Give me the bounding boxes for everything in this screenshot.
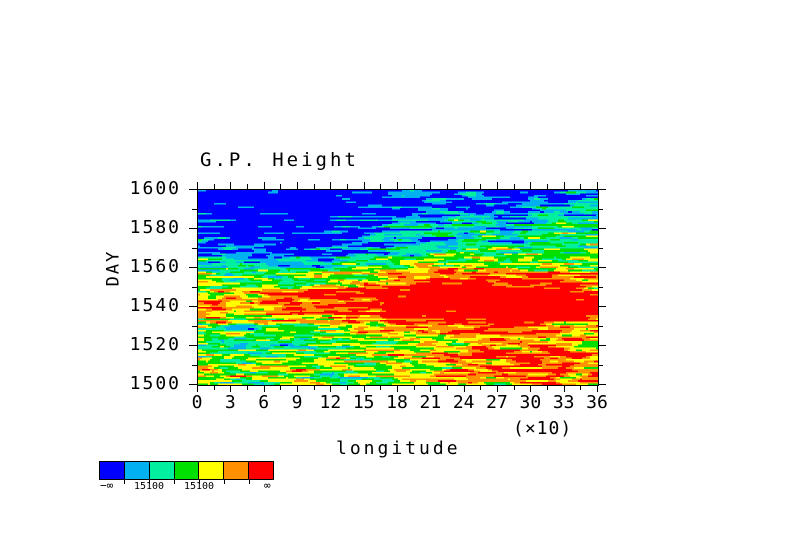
x-tick-top (314, 184, 315, 189)
x-tick-top (497, 182, 498, 189)
x-tick-bottom (597, 385, 598, 392)
x-tick-bottom (580, 385, 581, 390)
y-tick-right (598, 365, 603, 366)
x-tick-top (514, 184, 515, 189)
x-tick-top (280, 184, 281, 189)
x-tick-top (247, 184, 248, 189)
y-tick-left (189, 384, 197, 385)
x-tick-top (430, 182, 431, 189)
colorbar-tick (249, 480, 250, 484)
y-tick-label: 1540 (113, 295, 181, 316)
y-tick-right (598, 326, 603, 327)
x-tick-bottom (530, 385, 531, 392)
x-tick-top (214, 184, 215, 189)
y-tick-left (192, 326, 197, 327)
x-tick-bottom (497, 385, 498, 392)
y-tick-label: 1520 (113, 334, 181, 355)
y-tick-left (189, 228, 197, 229)
x-tick-top (580, 184, 581, 189)
x-tick-top (597, 182, 598, 189)
x-tick-bottom (330, 385, 331, 392)
y-tick-right (598, 189, 606, 190)
y-tick-label: 1600 (113, 178, 181, 199)
x-tick-top (330, 182, 331, 189)
x-tick-top (447, 184, 448, 189)
heatmap-plot-area (197, 189, 599, 386)
x-tick-bottom (197, 385, 198, 392)
x-tick-bottom (380, 385, 381, 390)
x-tick-bottom (480, 385, 481, 390)
colorbar-segment (248, 462, 273, 479)
colorbar (99, 461, 274, 480)
y-tick-left (192, 248, 197, 249)
x-axis-title: longitude (336, 438, 461, 459)
y-tick-right (598, 345, 606, 346)
x-tick-top (297, 182, 298, 189)
colorbar-min-label: −∞ (100, 479, 113, 492)
x-tick-bottom (280, 385, 281, 390)
x-tick-top (380, 184, 381, 189)
y-tick-label: 1560 (113, 256, 181, 277)
heatmap-field (198, 190, 598, 385)
y-tick-left (192, 209, 197, 210)
y-tick-right (598, 267, 606, 268)
x-tick-top (347, 184, 348, 189)
y-tick-right (598, 384, 606, 385)
x-tick-bottom (314, 385, 315, 390)
x-tick-top (364, 182, 365, 189)
x-axis-multiplier-label: (×10) (513, 418, 572, 439)
x-tick-bottom (430, 385, 431, 392)
x-tick-bottom (514, 385, 515, 390)
x-tick-bottom (397, 385, 398, 392)
x-tick-bottom (297, 385, 298, 392)
x-tick-bottom (447, 385, 448, 390)
y-tick-label: 1500 (113, 373, 181, 394)
y-tick-left (189, 189, 197, 190)
y-tick-right (598, 248, 603, 249)
colorbar-segment (198, 462, 223, 479)
colorbar-segments (99, 461, 274, 480)
x-tick-top (230, 182, 231, 189)
figure-canvas: G.P. Height DAY 036912151821242730333615… (0, 0, 789, 558)
y-tick-right (598, 228, 606, 229)
x-tick-bottom (547, 385, 548, 390)
page-title: G.P. Height (200, 149, 359, 171)
y-tick-right (598, 306, 606, 307)
colorbar-max-label: ∞ (264, 479, 271, 492)
x-tick-bottom (247, 385, 248, 390)
x-tick-bottom (364, 385, 365, 392)
x-tick-bottom (414, 385, 415, 390)
y-tick-label: 1580 (113, 217, 181, 238)
x-tick-top (464, 182, 465, 189)
y-tick-left (192, 365, 197, 366)
x-tick-bottom (264, 385, 265, 392)
x-tick-top (547, 184, 548, 189)
x-tick-top (414, 184, 415, 189)
y-tick-left (189, 267, 197, 268)
x-tick-top (197, 182, 198, 189)
x-tick-top (530, 182, 531, 189)
x-tick-label: 36 (577, 392, 617, 413)
y-tick-left (189, 306, 197, 307)
colorbar-segment (149, 462, 174, 479)
y-tick-left (192, 287, 197, 288)
x-tick-bottom (230, 385, 231, 392)
x-tick-bottom (347, 385, 348, 390)
x-tick-top (264, 182, 265, 189)
colorbar-segment (100, 462, 124, 479)
x-tick-bottom (564, 385, 565, 392)
colorbar-segment (223, 462, 248, 479)
x-tick-bottom (464, 385, 465, 392)
x-tick-top (397, 182, 398, 189)
y-tick-right (598, 287, 603, 288)
x-tick-bottom (214, 385, 215, 390)
colorbar-segment (174, 462, 199, 479)
colorbar-tick-label: 15100 (169, 481, 229, 492)
colorbar-segment (124, 462, 149, 479)
y-tick-left (189, 345, 197, 346)
y-tick-right (598, 209, 603, 210)
x-tick-top (564, 182, 565, 189)
x-tick-top (480, 184, 481, 189)
